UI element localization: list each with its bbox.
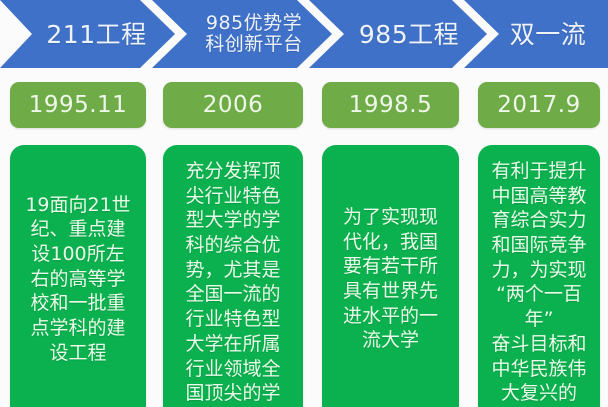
date-text-985: 1998.5 bbox=[349, 92, 432, 118]
date-text-985-platform: 2006 bbox=[203, 92, 264, 118]
date-text-211: 1995.11 bbox=[29, 92, 128, 118]
column-stage-shuangyiliu: 2017.9 有利于提升中国高等教育综合实力和国际竞争力，为实现“两个一百年”奋… bbox=[478, 82, 600, 407]
infographic-canvas: 211工程 985优势学 科创新平台 985工程 双一流 1995.11 19面… bbox=[0, 0, 608, 407]
column-stage-985: 1998.5 为了实现现代化，我国要有若干所具有世界先进水平的一流大学 bbox=[322, 82, 459, 407]
chevron-label-985-platform: 985优势学 科创新平台 bbox=[205, 13, 303, 54]
chevron-label-shuangyiliu: 双一流 bbox=[510, 21, 587, 48]
description-text-985: 为了实现现代化，我国要有若干所具有世界先进水平的一流大学 bbox=[343, 205, 438, 353]
date-badge-211: 1995.11 bbox=[10, 82, 146, 128]
date-text-shuangyiliu: 2017.9 bbox=[497, 92, 580, 118]
description-text-985-platform: 充分发挥顶尖行业特色型大学的学科的综合优势，尤其是全国一流的行业特色型大学在所属… bbox=[185, 159, 280, 406]
stage-chevron-band: 211工程 985优势学 科创新平台 985工程 双一流 bbox=[0, 0, 608, 68]
date-badge-985: 1998.5 bbox=[322, 82, 459, 128]
column-stage-211: 1995.11 19面向21世纪、重点建设100所左右的高等学校和一批重点学科的… bbox=[10, 82, 146, 407]
description-card-985-platform: 充分发挥顶尖行业特色型大学的学科的综合优势，尤其是全国一流的行业特色型大学在所属… bbox=[163, 145, 303, 407]
chevron-label-211: 211工程 bbox=[46, 21, 146, 48]
description-card-985: 为了实现现代化，我国要有若干所具有世界先进水平的一流大学 bbox=[322, 145, 459, 407]
chevron-label-985: 985工程 bbox=[359, 21, 459, 48]
date-badge-shuangyiliu: 2017.9 bbox=[478, 82, 600, 128]
column-stage-985-platform: 2006 充分发挥顶尖行业特色型大学的学科的综合优势，尤其是全国一流的行业特色型… bbox=[163, 82, 303, 407]
description-card-211: 19面向21世纪、重点建设100所左右的高等学校和一批重点学科的建设工程 bbox=[10, 145, 146, 407]
description-card-shuangyiliu: 有利于提升中国高等教育综合实力和国际竞争力，为实现“两个一百年”奋斗目标和中华民… bbox=[478, 145, 600, 407]
date-badge-985-platform: 2006 bbox=[163, 82, 303, 128]
chevron-stage-211[interactable]: 211工程 bbox=[0, 0, 175, 68]
chevron-stage-985[interactable]: 985工程 bbox=[309, 0, 487, 68]
description-text-shuangyiliu: 有利于提升中国高等教育综合实力和国际竞争力，为实现“两个一百年”奋斗目标和中华民… bbox=[485, 159, 593, 407]
chevron-stage-985-platform[interactable]: 985优势学 科创新平台 bbox=[152, 0, 332, 68]
description-text-211: 19面向21世纪、重点建设100所左右的高等学校和一批重点学科的建设工程 bbox=[25, 193, 130, 366]
